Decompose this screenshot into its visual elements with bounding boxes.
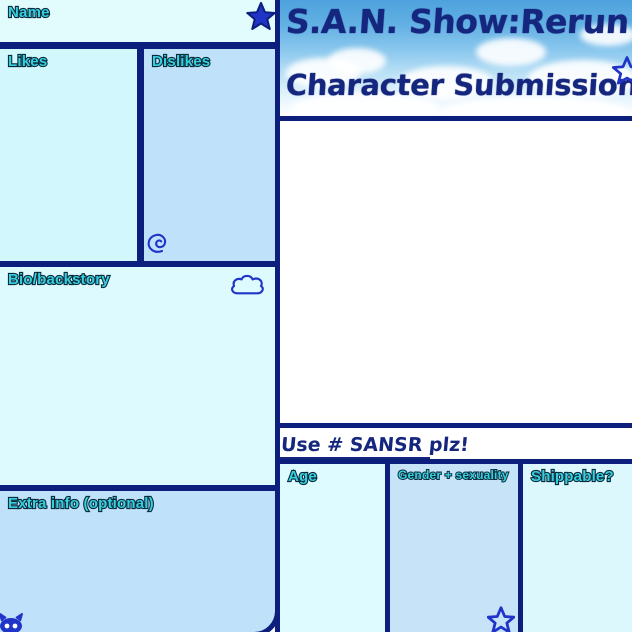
field-likes[interactable]: Likes <box>0 44 142 266</box>
field-age[interactable]: Age <box>275 459 390 632</box>
field-extra-info-label: Extra info (optional) <box>8 495 154 512</box>
field-shippable-label: Shippable? <box>531 468 614 485</box>
star-doodle-name-panel <box>246 1 276 31</box>
field-dislikes-label: Dislikes <box>152 53 210 70</box>
field-bio-label: Bio/backstory <box>8 271 110 288</box>
character-submission-form-sheet: S.A.N. Show:Rerun Character Submission F… <box>0 0 632 632</box>
star-doodle-gender <box>487 606 515 632</box>
field-likes-label: Likes <box>8 53 47 70</box>
form-title-line-2: Character Submission Form! <box>285 68 632 102</box>
cat-face-doodle-extra <box>0 613 24 632</box>
hashtag-instruction: Use # SANSR plz! <box>280 434 470 456</box>
header-banner: S.A.N. Show:Rerun Character Submission F… <box>275 0 632 121</box>
main-art-area[interactable] <box>275 116 632 428</box>
field-gender-sexuality-label: Gender + sexuality <box>398 468 509 482</box>
cloud-shape <box>476 38 546 66</box>
field-extra-info[interactable]: Extra info (optional) <box>0 486 280 632</box>
field-name[interactable]: Name <box>0 0 280 47</box>
spiral-doodle-dislikes <box>145 231 171 257</box>
form-title-line-1: S.A.N. Show:Rerun <box>285 2 631 41</box>
field-shippable[interactable]: Shippable? <box>518 459 632 632</box>
cloud-doodle-bio <box>229 272 267 298</box>
field-name-label: Name <box>8 4 50 21</box>
field-age-label: Age <box>288 468 317 485</box>
star-doodle-title-3 <box>612 55 632 85</box>
